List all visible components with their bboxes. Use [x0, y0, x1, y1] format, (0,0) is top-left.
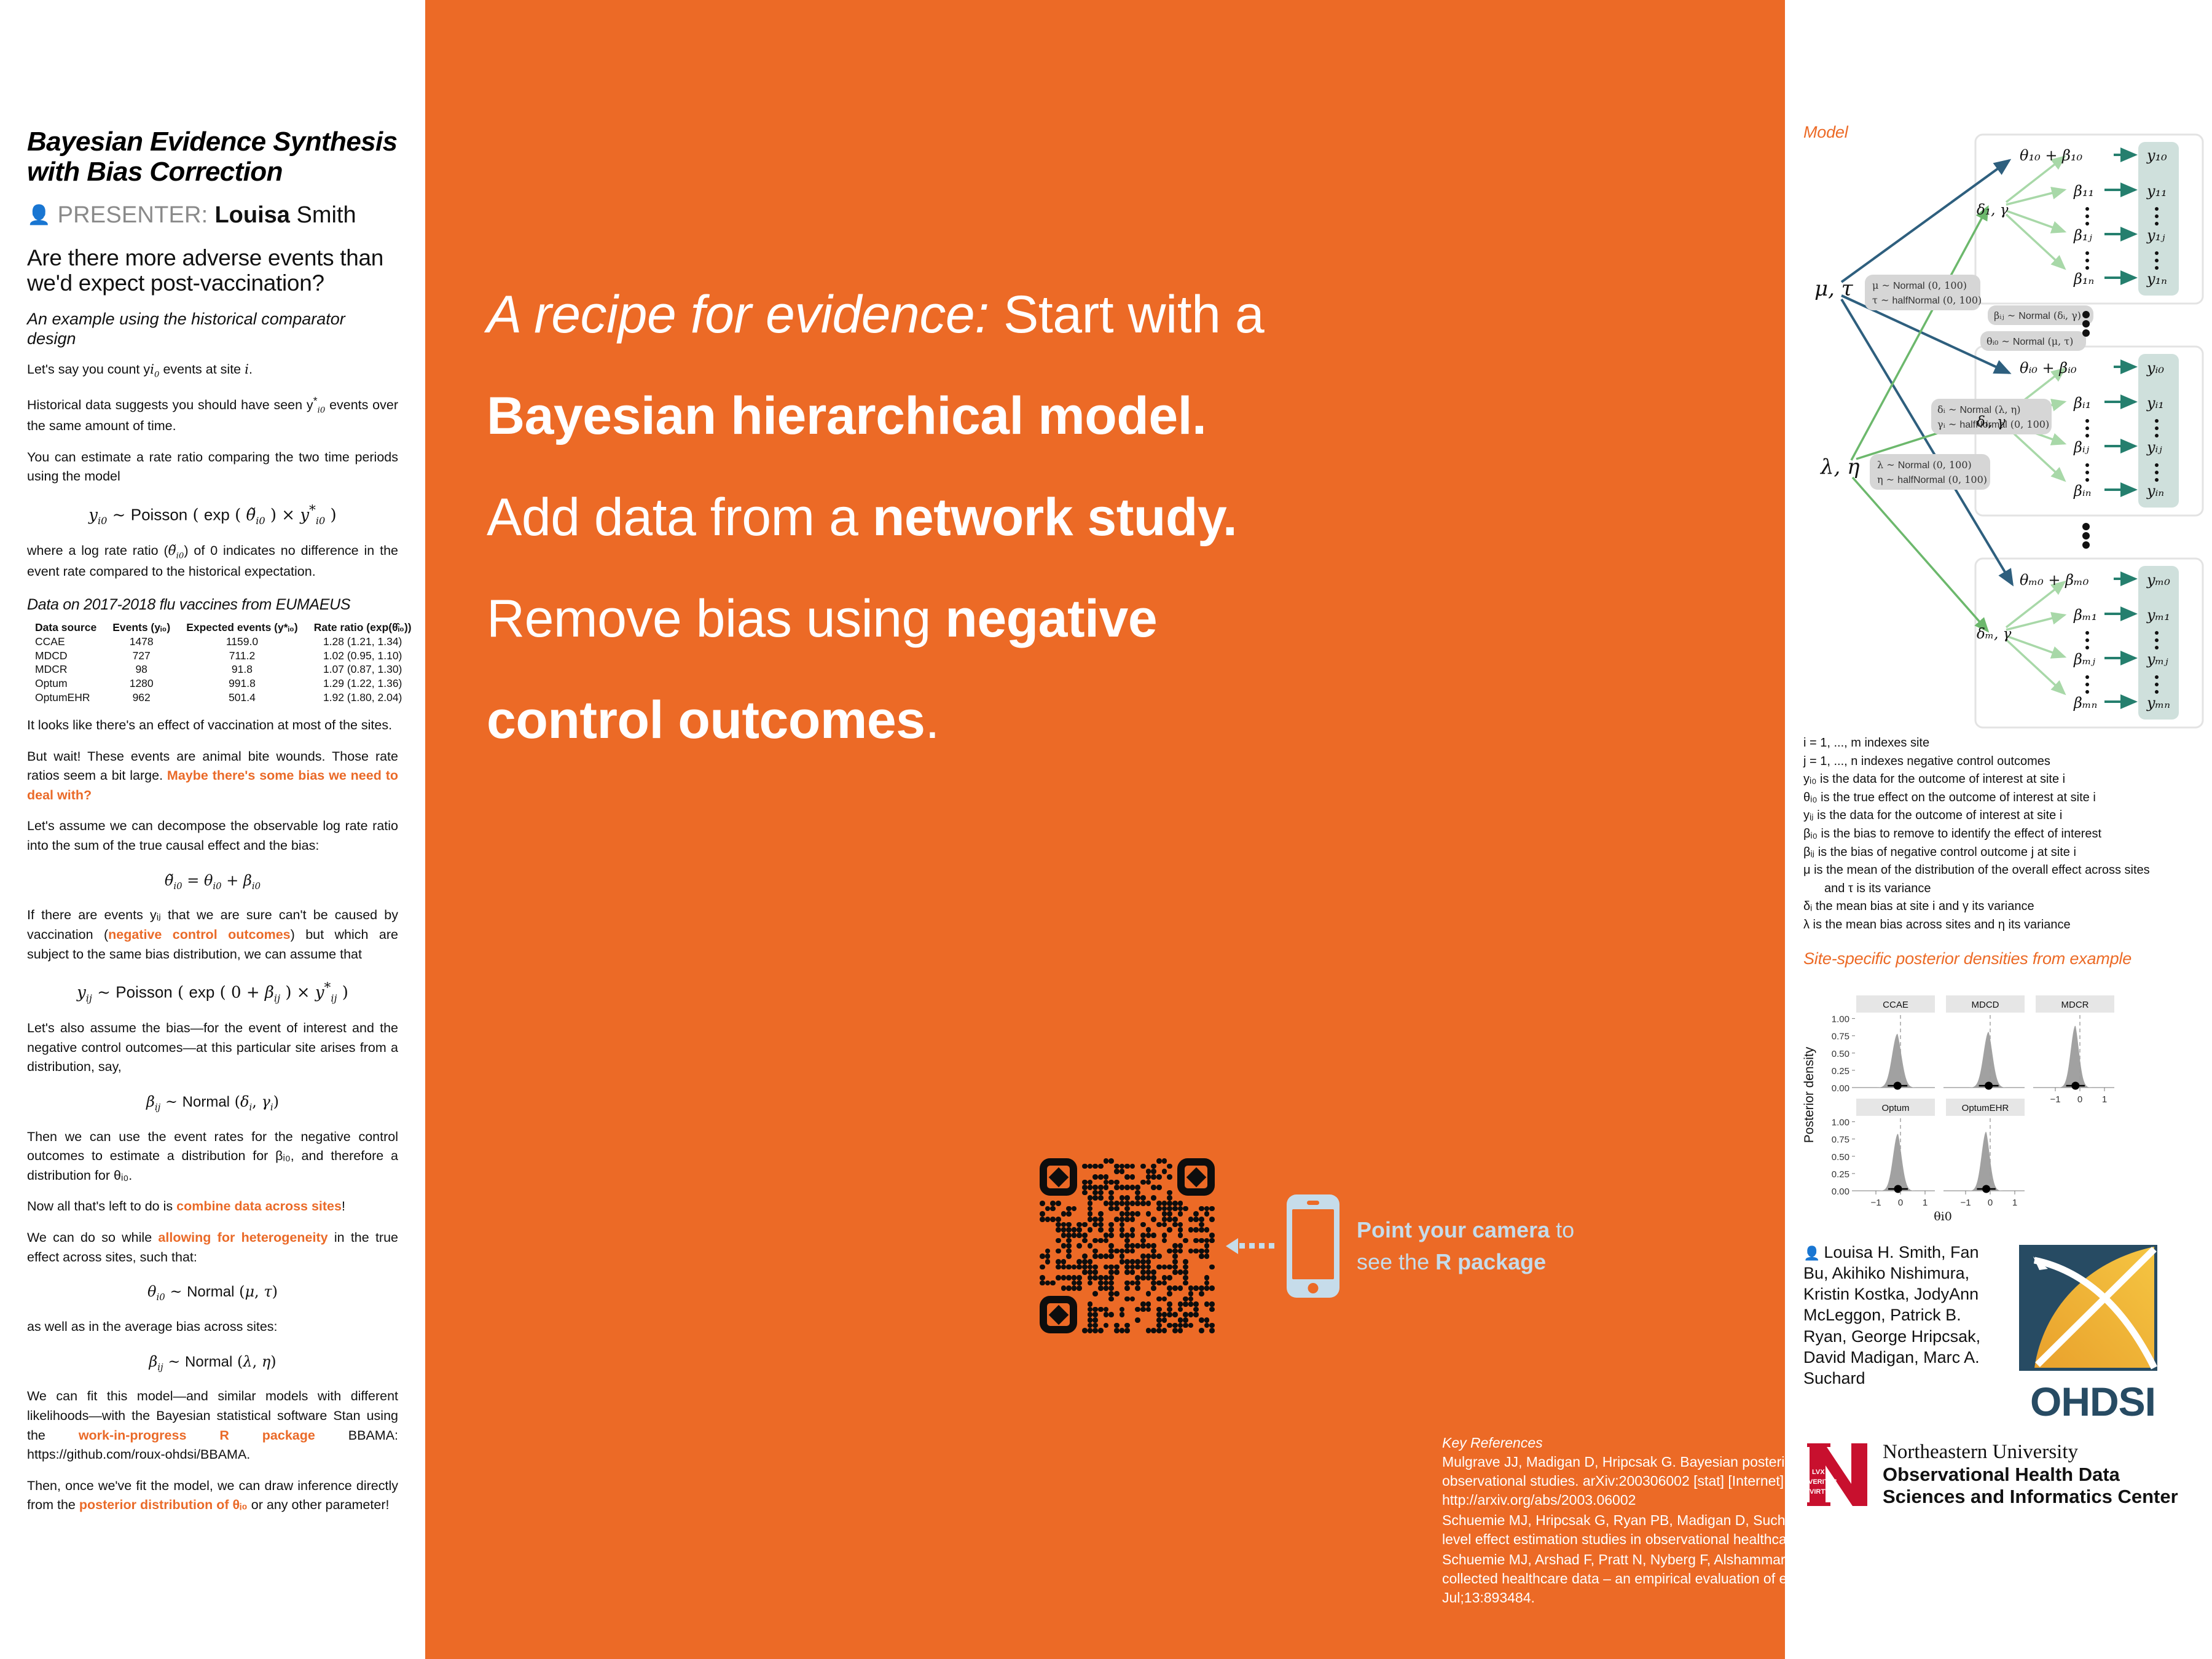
notation-item: λ is the mean bias across sites and η it…	[1803, 916, 2198, 935]
svg-text:βᵢⱼ: βᵢⱼ	[2073, 439, 2090, 456]
svg-text:yₘⱼ: yₘⱼ	[2146, 651, 2168, 668]
northeastern-n-icon: LVX VERITAS VIRTVS	[1803, 1438, 1874, 1511]
svg-text:yᵢ₁: yᵢ₁	[2146, 394, 2164, 412]
panel-label: MDCR	[2061, 1000, 2089, 1010]
equation-theta-normal: θi0 ~ Normal (μ, τ)	[27, 1283, 398, 1303]
page-title: Bayesian Evidence Synthesis with Bias Co…	[27, 127, 398, 187]
prior-lambda-box: λ ~ Normal (0, 100) η ~ halfNormal (0, 1…	[1870, 454, 1990, 490]
left-column: Bayesian Evidence Synthesis with Bias Co…	[0, 0, 425, 1659]
poster-root: Bayesian Evidence Synthesis with Bias Co…	[0, 0, 2212, 1659]
neu-university-name: Northeastern University	[1883, 1441, 2178, 1464]
headline-line-3: Add data from a network study.	[487, 467, 1709, 568]
svg-text:τ ~ halfNormal (0, 100): τ ~ halfNormal (0, 100)	[1872, 294, 1982, 306]
svg-text:1: 1	[2012, 1198, 2017, 1208]
paragraph-historical-data: Historical data suggests you should have…	[27, 393, 398, 436]
paragraph-heterogeneity: We can do so while allowing for heteroge…	[27, 1228, 398, 1267]
notation-item: βᵢ₀ is the bias to remove to identify th…	[1803, 825, 2198, 844]
col-header-expected: Expected events (y*ᵢ₀)	[178, 621, 306, 635]
col-header-rate-ratio: Rate ratio (exp(θ̂ᵢ₀))	[306, 621, 420, 635]
qr-code[interactable]	[1040, 1158, 1215, 1333]
presenter-first-name: Louisa	[214, 202, 289, 228]
svg-text:Posterior density: Posterior density	[1803, 1046, 1816, 1143]
svg-text:1: 1	[2102, 1094, 2107, 1105]
svg-text:0.25: 0.25	[1832, 1065, 1849, 1076]
svg-text:0: 0	[1898, 1198, 1903, 1208]
paragraph-decompose: Let's assume we can decompose the observ…	[27, 817, 398, 855]
headline-line-2: Bayesian hierarchical model.	[487, 366, 1709, 467]
presenter-row: 👤 PRESENTER: Louisa Smith	[27, 203, 398, 227]
presenter-name: Louisa Smith	[214, 203, 356, 227]
node-delta-i: δᵢ, γ	[1977, 414, 2006, 430]
posterior-densities-chart: Posterior densityCCAE0.000.250.500.751.0…	[1803, 972, 2209, 1227]
headline-line-5: control outcomes.	[487, 670, 1709, 771]
northeastern-logo: LVX VERITAS VIRTVS Northeastern Universi…	[1803, 1438, 2198, 1511]
svg-text:0.75: 0.75	[1832, 1134, 1849, 1145]
edge-label-beta: βᵢⱼ ~ Normal (δᵢ, γ)	[1988, 305, 2093, 325]
panel-label: MDCD	[1972, 1000, 1999, 1010]
person-icon: 👤	[1803, 1245, 1820, 1261]
svg-text:yₘ₁: yₘ₁	[2146, 606, 2170, 624]
notation-item: βᵢⱼ is the bias of negative control outc…	[1803, 844, 2198, 862]
right-column: Model	[1785, 0, 2212, 1659]
paragraph-average-bias: as well as in the average bias across si…	[27, 1317, 398, 1337]
node-mu-tau: μ, τ	[1814, 276, 1854, 301]
qr-finder-icon	[1177, 1158, 1215, 1196]
paragraph-negative-controls: If there are events yᵢⱼ that we are sure…	[27, 906, 398, 964]
authors-and-logos: 👤Louisa H. Smith, Fan Bu, Akihiko Nishim…	[1803, 1242, 2198, 1425]
paragraph-bias-distribution: Let's also assume the bias—for the event…	[27, 1019, 398, 1077]
col-header-events: Events (yᵢ₀)	[104, 621, 178, 635]
author-names: Louisa H. Smith, Fan Bu, Akihiko Nishimu…	[1803, 1243, 1980, 1388]
paragraph-estimate-distribution: Then we can use the event rates for the …	[27, 1128, 398, 1186]
svg-text:yᵢⱼ: yᵢⱼ	[2146, 439, 2162, 456]
svg-text:0: 0	[2077, 1094, 2082, 1105]
table-row: CCAE14781159.01.28 (1.21, 1.34)	[27, 635, 420, 649]
headline-line-4: Remove bias using negative	[487, 568, 1709, 670]
notation-item: i = 1, ..., m indexes site	[1803, 734, 2198, 753]
equation-poisson-2: yij ~ Poisson ( exp ( 0 + βij ) × y*ij )	[27, 980, 398, 1004]
equation-beta-normal-global: βij ~ Normal (λ, η)	[27, 1353, 398, 1373]
svg-text:βᵢ₁: βᵢ₁	[2073, 394, 2091, 412]
headline-line-1: A recipe for evidence: Start with a	[487, 264, 1709, 366]
svg-text:y₁₁: y₁₁	[2146, 182, 2167, 200]
svg-text:VERITAS: VERITAS	[1808, 1478, 1837, 1486]
qr-instruction-text: Point your camera to see the R package	[1357, 1214, 1574, 1277]
qr-finder-icon	[1040, 1296, 1077, 1333]
center-column: A recipe for evidence: Start with a Baye…	[425, 0, 1785, 1659]
svg-text:0.00: 0.00	[1832, 1186, 1849, 1197]
svg-text:0.00: 0.00	[1832, 1083, 1849, 1094]
notation-item: yᵢⱼ is the data for the outcome of inter…	[1803, 807, 2198, 825]
presenter-last-name: Smith	[296, 202, 356, 228]
paragraph-effect-observed: It looks like there's an effect of vacci…	[27, 716, 398, 735]
svg-text:yᵢₙ: yᵢₙ	[2146, 482, 2164, 500]
author-list: 👤Louisa H. Smith, Fan Bu, Akihiko Nishim…	[1803, 1242, 2006, 1389]
svg-text:yₘ₀: yₘ₀	[2146, 571, 2170, 589]
qr-finder-icon	[1040, 1158, 1077, 1196]
person-icon: 👤	[27, 205, 51, 224]
ohdsi-mark-icon	[2016, 1242, 2160, 1374]
notation-item: θᵢ₀ is the true effect on the outcome of…	[1803, 789, 2198, 807]
svg-text:yₘₙ: yₘₙ	[2146, 694, 2170, 712]
svg-text:0.50: 0.50	[1832, 1048, 1849, 1059]
svg-text:βᵢⱼ ~ Normal (δᵢ, γ): βᵢⱼ ~ Normal (δᵢ, γ)	[1994, 310, 2081, 321]
svg-text:0.75: 0.75	[1832, 1031, 1849, 1041]
notation-item: and τ is its variance	[1803, 880, 2198, 898]
density-area	[1856, 1033, 1935, 1088]
svg-text:βₘ₁: βₘ₁	[2073, 606, 2097, 624]
svg-text:β₁₁: β₁₁	[2073, 182, 2094, 200]
panel-label: Optum	[1881, 1103, 1909, 1113]
highlight-heterogeneity: allowing for heterogeneity	[158, 1230, 327, 1245]
node-lambda-eta: λ, η	[1819, 455, 1860, 479]
col-header-source: Data source	[27, 621, 104, 635]
notation-item: yᵢ₀ is the data for the outcome of inter…	[1803, 771, 2198, 789]
panel-label: CCAE	[1883, 1000, 1908, 1010]
svg-text:βₘⱼ: βₘⱼ	[2073, 651, 2096, 668]
equation-decomposition: θ̃i0 = θi0 + βi0	[27, 872, 398, 892]
svg-text:η ~ halfNormal (0, 100): η ~ halfNormal (0, 100)	[1877, 474, 1987, 485]
svg-text:β₁ⱼ: β₁ⱼ	[2073, 227, 2092, 244]
model-diagram-svg: μ, τ λ, η μ ~ Normal (0, 100) τ ~ halfNo…	[1803, 128, 2209, 731]
notation-item: μ is the mean of the distribution of the…	[1803, 861, 2198, 880]
node-delta-m: δₘ, γ	[1977, 626, 2012, 642]
design-subtitle: An example using the historical comparat…	[27, 310, 398, 348]
paragraph-rate-ratio-model: You can estimate a rate ratio comparing …	[27, 448, 398, 487]
svg-text:0: 0	[1988, 1198, 1993, 1208]
svg-text:0.25: 0.25	[1832, 1169, 1849, 1179]
notation-list: i = 1, ..., m indexes site j = 1, ..., n…	[1803, 734, 2198, 935]
prior-mu-box: μ ~ Normal (0, 100) τ ~ halfNormal (0, 1…	[1865, 275, 1982, 310]
svg-text:y₁ⱼ: y₁ⱼ	[2146, 227, 2165, 244]
svg-text:y₁₀: y₁₀	[2146, 147, 2167, 164]
paragraph-count-events: Let's say you count yi0 events at site i…	[27, 360, 398, 381]
node-theta-plate3: θₘ₀ + βₘ₀	[2020, 571, 2089, 589]
highlight-combine-sites: combine data across sites	[176, 1199, 342, 1214]
svg-text:−1: −1	[1960, 1198, 1971, 1208]
svg-text:λ ~ Normal (0, 100): λ ~ Normal (0, 100)	[1877, 459, 1972, 471]
svg-text:0.50: 0.50	[1832, 1151, 1849, 1162]
point-estimate	[1985, 1081, 1993, 1089]
svg-text:βᵢₙ: βᵢₙ	[2073, 482, 2091, 500]
ohdsi-wordmark: OHDSI	[2016, 1378, 2170, 1425]
panel-label: OptumEHR	[1962, 1103, 2009, 1113]
table-row: Optum1280991.81.29 (1.22, 1.36)	[27, 677, 420, 691]
svg-text:y₁ₙ: y₁ₙ	[2146, 270, 2167, 288]
svg-text:1: 1	[1923, 1198, 1928, 1208]
svg-text:β₁ₙ: β₁ₙ	[2073, 270, 2094, 288]
density-area	[1946, 1131, 2025, 1190]
phone-icon	[1287, 1194, 1339, 1298]
neu-center-line1: Observational Health Data	[1883, 1464, 2178, 1485]
table-row: OptumEHR962501.41.92 (1.80, 2.04)	[27, 691, 420, 705]
svg-text:LVX: LVX	[1812, 1469, 1825, 1476]
x-axis-label: θi0	[1934, 1210, 1952, 1223]
table-header-row: Data source Events (yᵢ₀) Expected events…	[27, 621, 420, 635]
equation-poisson-1: yi0 ~ Poisson ( exp ( θ̃i0 ) × y*i0 )	[27, 503, 398, 527]
notation-item: δᵢ the mean bias at site i and γ its var…	[1803, 898, 2198, 916]
table-row: MDCD727711.21.02 (0.95, 1.10)	[27, 649, 420, 663]
svg-text:βₘₙ: βₘₙ	[2073, 694, 2097, 712]
svg-text:μ ~ Normal (0, 100): μ ~ Normal (0, 100)	[1872, 280, 1967, 291]
svg-text:θᵢ₀ ~ Normal (μ, τ): θᵢ₀ ~ Normal (μ, τ)	[1986, 335, 2073, 347]
paragraph-stan-package: We can fit this model—and similar models…	[27, 1387, 398, 1464]
point-estimate	[1894, 1185, 1902, 1193]
point-estimate	[1894, 1081, 1902, 1089]
neu-center-line2: Sciences and Informatics Center	[1883, 1486, 2178, 1507]
node-theta-plate1: θ₁₀ + β₁₀	[2020, 147, 2083, 164]
section-title-densities: Site-specific posterior densities from e…	[1803, 949, 2198, 968]
notation-item: j = 1, ..., n indexes negative control o…	[1803, 753, 2198, 771]
svg-text:1.00: 1.00	[1832, 1014, 1849, 1024]
presenter-label: PRESENTER:	[58, 203, 208, 227]
paragraph-combine-sites: Now all that's left to do is combine dat…	[27, 1197, 398, 1217]
svg-text:yᵢ₀: yᵢ₀	[2146, 359, 2164, 377]
node-delta-1: δ₁, γ	[1977, 202, 2009, 218]
model-diagram: μ, τ λ, η μ ~ Normal (0, 100) τ ~ halfNo…	[1803, 128, 2209, 731]
edge-label-theta: θᵢ₀ ~ Normal (μ, τ)	[1980, 331, 2086, 351]
highlight-negative-control: negative control outcomes	[108, 927, 290, 942]
density-area	[1856, 1134, 1935, 1191]
arrow-to-qr-icon	[1226, 1238, 1274, 1254]
research-question: Are there more adverse events than we'd …	[27, 245, 398, 297]
northeastern-text: Northeastern University Observational He…	[1883, 1441, 2178, 1508]
paragraph-posterior-inference: Then, once we've fit the model, we can d…	[27, 1477, 398, 1515]
density-area	[1946, 1032, 2025, 1088]
densities-svg: Posterior densityCCAE0.000.250.500.751.0…	[1803, 972, 2209, 1227]
density-area	[2036, 1026, 2114, 1088]
equation-beta-normal-site: βij ~ Normal (δi, γi)	[27, 1093, 398, 1113]
highlight-posterior: posterior distribution of θᵢ₀	[79, 1497, 248, 1512]
table-row: MDCR9891.81.07 (0.87, 1.30)	[27, 662, 420, 677]
ohdsi-logo: OHDSI	[2016, 1242, 2182, 1425]
svg-text:−1: −1	[1870, 1198, 1881, 1208]
point-estimate	[1982, 1185, 1990, 1193]
highlight-r-package: work-in-progress R package	[79, 1428, 315, 1443]
svg-text:1.00: 1.00	[1832, 1117, 1849, 1128]
table-caption: Data on 2017-2018 flu vaccines from EUMA…	[27, 596, 398, 614]
paragraph-bias-warning: But wait! These events are animal bite w…	[27, 747, 398, 806]
paragraph-log-rate-ratio: where a log rate ratio (θ̃i0) of 0 indic…	[27, 541, 398, 581]
headline-block: A recipe for evidence: Start with a Baye…	[487, 264, 1709, 772]
svg-text:VIRTVS: VIRTVS	[1810, 1488, 1834, 1496]
qr-block: Point your camera to see the R package	[1040, 1158, 1574, 1333]
eumaeus-data-table: Data source Events (yᵢ₀) Expected events…	[27, 621, 420, 704]
point-estimate	[2071, 1081, 2079, 1089]
svg-text:−1: −1	[2050, 1094, 2060, 1105]
node-theta-plate2: θᵢ₀ + βᵢ₀	[2020, 359, 2077, 377]
